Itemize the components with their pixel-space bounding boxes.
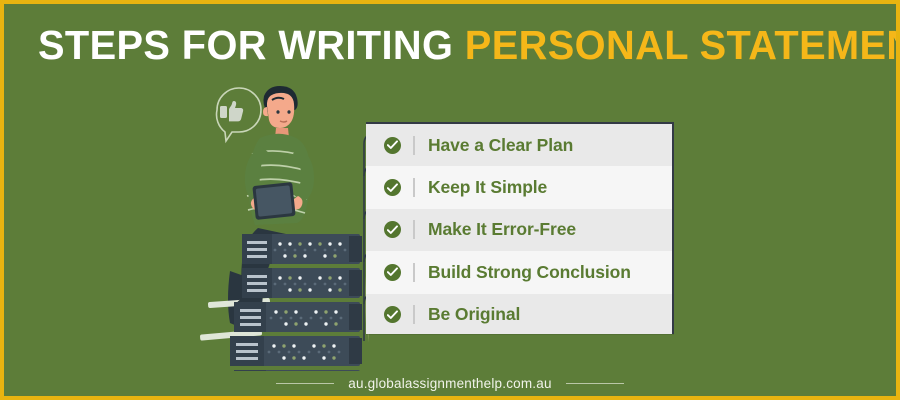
list-item[interactable]: Have a Clear Plan xyxy=(366,124,672,166)
rack-unit xyxy=(234,370,362,371)
footer-rule-right xyxy=(566,383,624,384)
page-title-plain: STEPS FOR WRITING xyxy=(38,22,453,68)
rack-unit xyxy=(234,302,362,332)
footer: au.globalassignmenthelp.com.au xyxy=(4,372,896,394)
page-title-highlight: PERSONAL STATEMENT xyxy=(465,22,900,68)
rack-unit xyxy=(242,268,362,298)
list-item-label: Keep It Simple xyxy=(428,177,547,198)
list-item-label: Make It Error-Free xyxy=(428,219,576,240)
speech-bubble-icon xyxy=(217,88,261,141)
list-item[interactable]: Build Strong Conclusion xyxy=(366,251,672,293)
row-divider xyxy=(413,220,415,239)
list-item[interactable]: Be Original xyxy=(366,294,672,334)
thumbs-up-icon xyxy=(220,101,243,121)
check-circle-icon xyxy=(384,306,401,323)
server-rack-stack xyxy=(230,234,362,371)
list-item-label: Be Original xyxy=(428,304,520,325)
check-circle-icon xyxy=(384,137,401,154)
infographic-canvas: STEPS FOR WRITING PERSONAL STATEMENT xyxy=(0,0,900,400)
row-divider xyxy=(413,305,415,324)
check-circle-icon xyxy=(384,264,401,281)
list-item-label: Build Strong Conclusion xyxy=(428,262,631,283)
page-title: STEPS FOR WRITING PERSONAL STATEMENT xyxy=(38,22,843,68)
list-item[interactable]: Keep It Simple xyxy=(366,166,672,208)
list-item[interactable]: Make It Error-Free xyxy=(366,209,672,251)
row-divider xyxy=(413,136,415,155)
list-item-label: Have a Clear Plan xyxy=(428,135,573,156)
footer-url[interactable]: au.globalassignmenthelp.com.au xyxy=(348,376,551,391)
steps-list-panel: Have a Clear Plan Keep It Simple Make It… xyxy=(366,122,674,334)
row-divider xyxy=(413,178,415,197)
rack-unit xyxy=(230,336,362,366)
row-divider xyxy=(413,263,415,282)
tablet-icon xyxy=(252,182,295,220)
illustration-man-on-server-racks xyxy=(194,76,369,371)
rack-unit xyxy=(242,234,362,264)
footer-rule-left xyxy=(276,383,334,384)
check-circle-icon xyxy=(384,179,401,196)
check-circle-icon xyxy=(384,221,401,238)
